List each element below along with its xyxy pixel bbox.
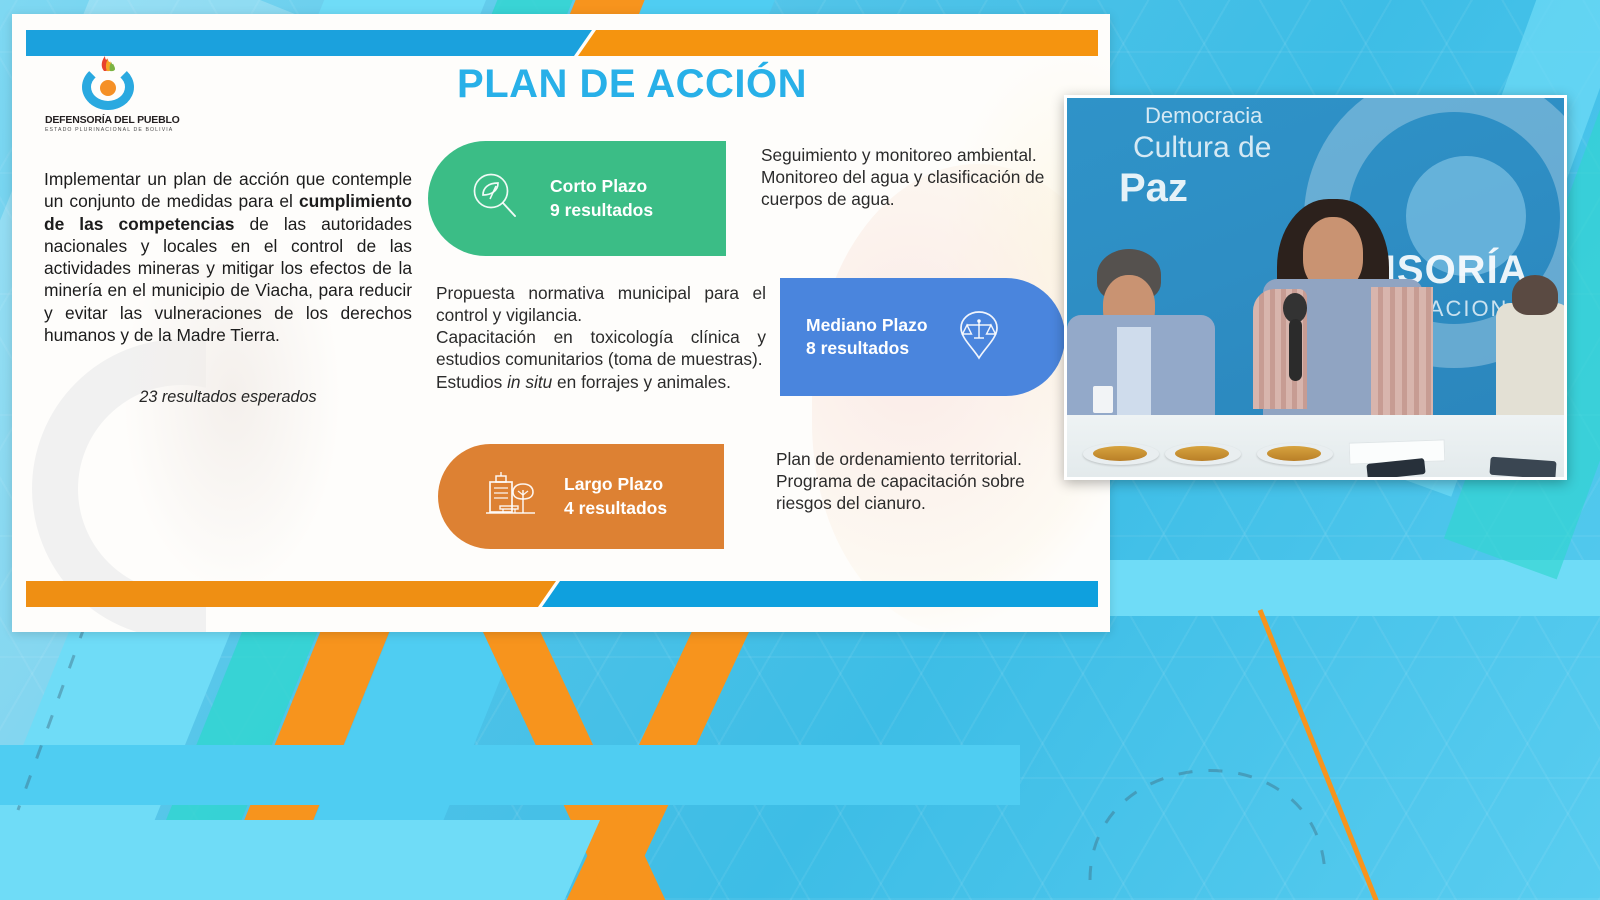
pill-mediano-results: 8 resultados — [806, 338, 909, 358]
pill-largo-plazo[interactable]: Largo Plazo 4 resultados — [438, 444, 724, 549]
slide-card: DEFENSORÍA DEL PUEBLO ESTADO PLURINACION… — [12, 14, 1110, 632]
pill-mediano-label: Mediano Plazo — [806, 315, 928, 335]
person-left-shirt — [1117, 327, 1151, 419]
bottom-accent-bar — [12, 581, 1110, 607]
pill-largo-label: Largo Plazo — [564, 474, 663, 494]
pill-mediano-text: Mediano Plazo 8 resultados — [806, 314, 928, 360]
pill-corto-label: Corto Plazo — [550, 176, 647, 196]
person-right-torso — [1496, 303, 1567, 419]
pill-largo-results: 4 resultados — [564, 498, 667, 518]
justice-scales-pin-icon — [954, 308, 1004, 367]
leaf-magnifier-icon — [468, 169, 522, 228]
top-accent-bar — [12, 30, 1110, 56]
backdrop-text-paz: Paz — [1119, 166, 1188, 211]
pill-largo-text: Largo Plazo 4 resultados — [564, 473, 667, 519]
food-2 — [1175, 446, 1229, 461]
top-bar-orange-segment — [578, 30, 1098, 56]
pill-corto-text: Corto Plazo 9 resultados — [550, 175, 653, 221]
building-tree-icon — [480, 468, 538, 525]
detail-mediano-line-1: Propuesta normativa municipal para el co… — [436, 282, 766, 326]
food-3 — [1267, 446, 1321, 461]
defensoria-logo-icon — [78, 52, 138, 110]
detail-mediano-line-3: Estudios in situ en forrajes y animales. — [436, 371, 766, 393]
detail-mediano-line-2: Capacitación en toxicología clínica y es… — [436, 326, 766, 370]
logo-title: DEFENSORÍA DEL PUEBLO — [45, 114, 170, 126]
detail-mediano-post: en forrajes y animales. — [552, 372, 731, 392]
defensoria-logo: DEFENSORÍA DEL PUEBLO ESTADO PLURINACION… — [45, 52, 170, 133]
pill-corto-plazo[interactable]: Corto Plazo 9 resultados — [428, 141, 726, 256]
person-center-plaid-shirt — [1371, 287, 1433, 419]
person-right-hair — [1512, 275, 1558, 315]
bottom-bar-blue-segment — [542, 581, 1098, 607]
detail-mediano-italic: in situ — [507, 372, 552, 392]
backdrop-text-democracia: Democracia — [1145, 103, 1262, 129]
detail-corto-plazo: Seguimiento y monitoreo ambiental. Monit… — [761, 144, 1073, 210]
food-1 — [1093, 446, 1147, 461]
detail-mediano-plazo: Propuesta normativa municipal para el co… — [436, 282, 766, 393]
person-left-id-badge — [1093, 386, 1113, 413]
logo-dot-shape — [100, 80, 116, 96]
bottom-bar-orange-segment — [26, 581, 556, 607]
bg-dashed-line-left — [10, 620, 100, 820]
bg-dashed-arc — [1080, 660, 1340, 890]
microphone-body — [1289, 319, 1302, 381]
logo-flame-icon — [99, 50, 117, 72]
bg-band-cyan-4 — [0, 745, 1020, 805]
press-conference-video[interactable]: Democracia Cultura de Paz NSORÍA DE URIN… — [1064, 95, 1567, 480]
bg-band-cyan-5 — [0, 820, 600, 900]
pill-corto-results: 9 resultados — [550, 200, 653, 220]
lead-paragraph: Implementar un plan de acción que contem… — [44, 168, 412, 346]
pill-mediano-plazo[interactable]: Mediano Plazo 8 resultados — [780, 278, 1065, 396]
detail-mediano-pre: Estudios — [436, 372, 507, 392]
logo-subtitle: ESTADO PLURINACIONAL DE BOLIVIA — [45, 127, 170, 133]
expected-results-note: 23 resultados esperados — [44, 388, 412, 407]
detail-largo-plazo: Plan de ordenamiento territorial. Progra… — [776, 448, 1076, 514]
backdrop-text-cultura: Cultura de — [1133, 131, 1271, 165]
page-title: PLAN DE ACCIÓN — [312, 62, 952, 107]
